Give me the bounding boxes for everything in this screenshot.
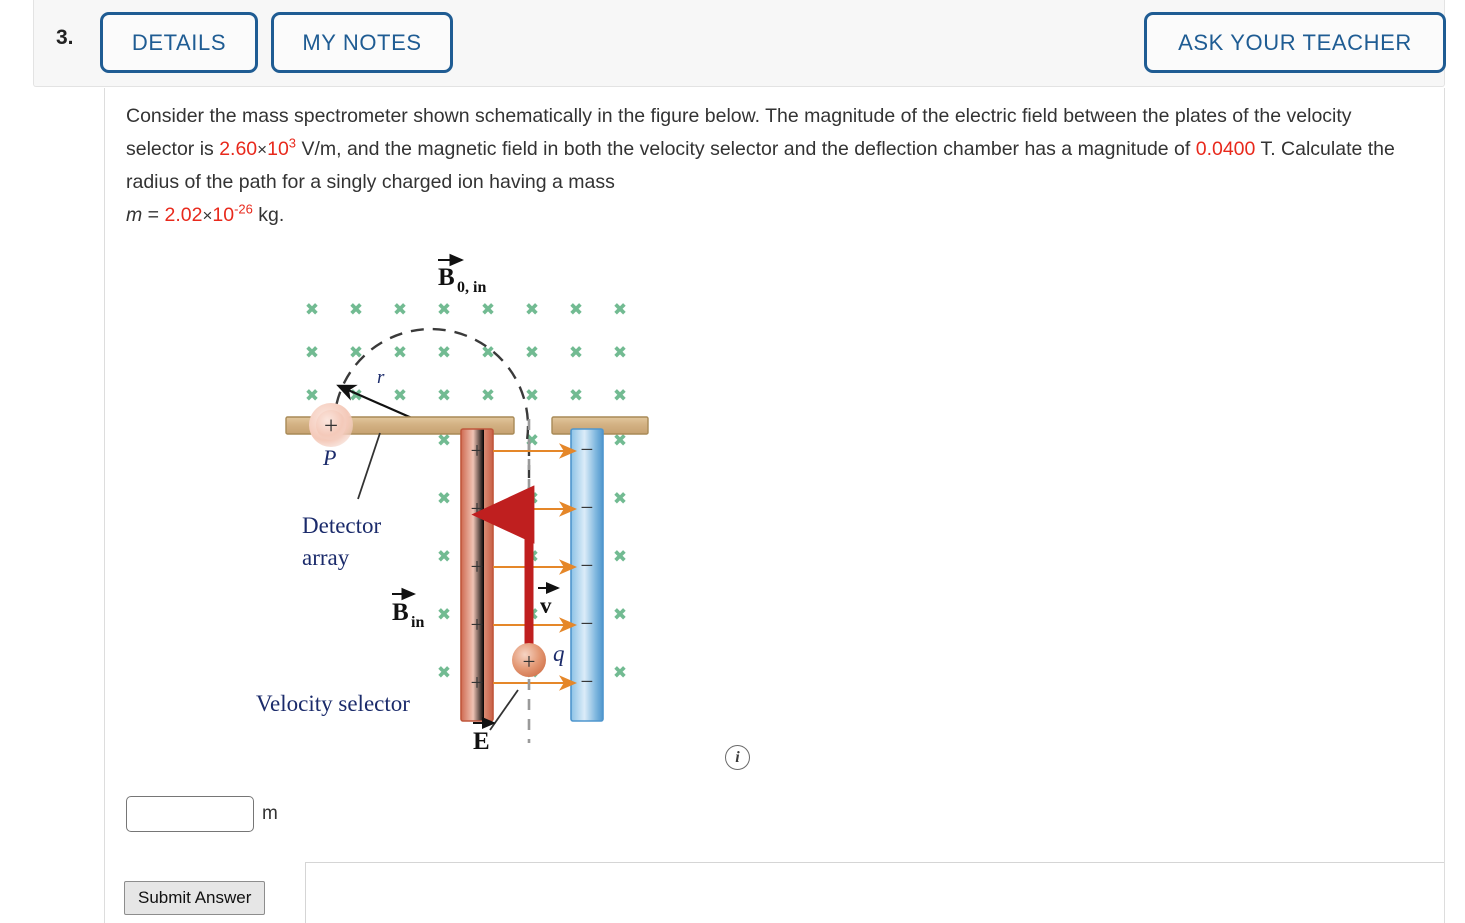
svg-text:✖: ✖	[569, 343, 583, 363]
charge-q-label: q	[553, 641, 565, 666]
svg-text:✖: ✖	[613, 663, 627, 683]
electric-field-exponent: 3	[289, 136, 296, 151]
point-p-label: P	[322, 445, 336, 470]
pos-sign-4: +	[471, 612, 484, 637]
svg-text:✖: ✖	[437, 547, 451, 567]
velocity-selector-label: Velocity selector	[256, 691, 410, 716]
b-in-subscript: in	[411, 614, 424, 631]
svg-text:✖: ✖	[569, 300, 583, 320]
svg-text:✖: ✖	[305, 343, 319, 363]
svg-text:✖: ✖	[437, 343, 451, 363]
question-prompt: Consider the mass spectrometer shown sch…	[126, 100, 1411, 232]
mass-exponent: -26	[234, 202, 253, 217]
svg-text:✖: ✖	[437, 300, 451, 320]
neg-sign-2: −	[581, 495, 594, 520]
pos-sign-2: +	[471, 496, 484, 521]
pos-sign-3: +	[471, 554, 484, 579]
b0-symbol: B	[438, 264, 455, 291]
svg-text:✖: ✖	[569, 386, 583, 406]
question-number: 3.	[56, 26, 74, 50]
content-left-divider	[104, 88, 105, 923]
b0-subscript: 0, in	[457, 279, 486, 296]
neg-sign-5: −	[581, 669, 594, 694]
mass-equals: =	[142, 204, 164, 226]
answer-unit-label: m	[262, 803, 278, 825]
e-symbol: E	[473, 728, 490, 755]
detector-array-label-1: Detector	[302, 513, 382, 538]
neg-sign-3: −	[581, 553, 594, 578]
mass-mantissa: 2.02	[164, 204, 202, 226]
svg-text:✖: ✖	[525, 386, 539, 406]
magnetic-field-value: 0.0400	[1196, 138, 1256, 160]
mass-base: 10	[212, 204, 234, 226]
ask-your-teacher-button[interactable]: ASK YOUR TEACHER	[1144, 12, 1446, 73]
svg-text:✖: ✖	[613, 343, 627, 363]
details-button[interactable]: DETAILS	[100, 12, 258, 73]
neg-sign-1: −	[581, 437, 594, 462]
info-icon[interactable]: i	[725, 745, 750, 770]
b-in-symbol: B	[392, 599, 409, 626]
detector-array-leader	[358, 433, 380, 499]
svg-text:✖: ✖	[393, 386, 407, 406]
svg-text:✖: ✖	[613, 300, 627, 320]
b-in-field-label: B in	[392, 594, 424, 631]
svg-text:✖: ✖	[525, 489, 539, 509]
pos-sign-5: +	[471, 670, 484, 695]
multiply-sign-m: ×	[202, 206, 212, 225]
svg-text:✖: ✖	[437, 386, 451, 406]
detected-ion-plus: +	[324, 413, 338, 440]
mass-symbol: m	[126, 204, 142, 226]
prompt-segment-2: V/m, and the magnetic field in both the …	[296, 138, 1196, 160]
svg-text:✖: ✖	[525, 300, 539, 320]
svg-text:✖: ✖	[393, 300, 407, 320]
submit-answer-button[interactable]: Submit Answer	[124, 881, 265, 915]
velocity-vector-label: v	[538, 588, 558, 618]
electric-field-mantissa: 2.60	[219, 138, 257, 160]
v-symbol: v	[540, 593, 552, 618]
prompt-segment-4: kg.	[253, 204, 284, 226]
question-page: 3. DETAILS MY NOTES ASK YOUR TEACHER Con…	[0, 0, 1465, 923]
svg-text:✖: ✖	[437, 605, 451, 625]
my-notes-button[interactable]: MY NOTES	[271, 12, 453, 73]
svg-text:✖: ✖	[393, 343, 407, 363]
radius-label: r	[377, 367, 385, 388]
e-field-leader	[490, 690, 518, 730]
svg-text:✖: ✖	[613, 547, 627, 567]
multiply-sign-e: ×	[257, 140, 267, 159]
svg-text:✖: ✖	[437, 663, 451, 683]
answer-input[interactable]	[126, 796, 254, 832]
svg-text:✖: ✖	[305, 386, 319, 406]
question-header-bar: 3. DETAILS MY NOTES ASK YOUR TEACHER	[33, 0, 1445, 87]
content-right-divider	[1444, 88, 1445, 923]
detector-array-label-2: array	[302, 545, 350, 570]
electric-field-base: 10	[267, 138, 289, 160]
mass-spectrometer-figure: ✖✖✖ ✖✖✖ ✖✖ ✖✖✖ ✖✖✖ ✖✖ ✖✖✖ ✖✖✖ ✖✖ ✖✖ ✖✖✖ …	[246, 243, 676, 768]
svg-text:✖: ✖	[437, 489, 451, 509]
svg-text:✖: ✖	[613, 489, 627, 509]
svg-text:✖: ✖	[349, 300, 363, 320]
svg-text:✖: ✖	[613, 386, 627, 406]
b0-field-label: B 0, in	[438, 260, 486, 296]
moving-ion-plus: +	[523, 649, 536, 674]
neg-sign-4: −	[581, 611, 594, 636]
svg-text:✖: ✖	[481, 386, 495, 406]
svg-text:✖: ✖	[305, 300, 319, 320]
svg-text:✖: ✖	[525, 343, 539, 363]
pos-sign-1: +	[471, 438, 484, 463]
svg-text:✖: ✖	[481, 300, 495, 320]
svg-text:✖: ✖	[613, 605, 627, 625]
feedback-panel	[305, 862, 1444, 923]
